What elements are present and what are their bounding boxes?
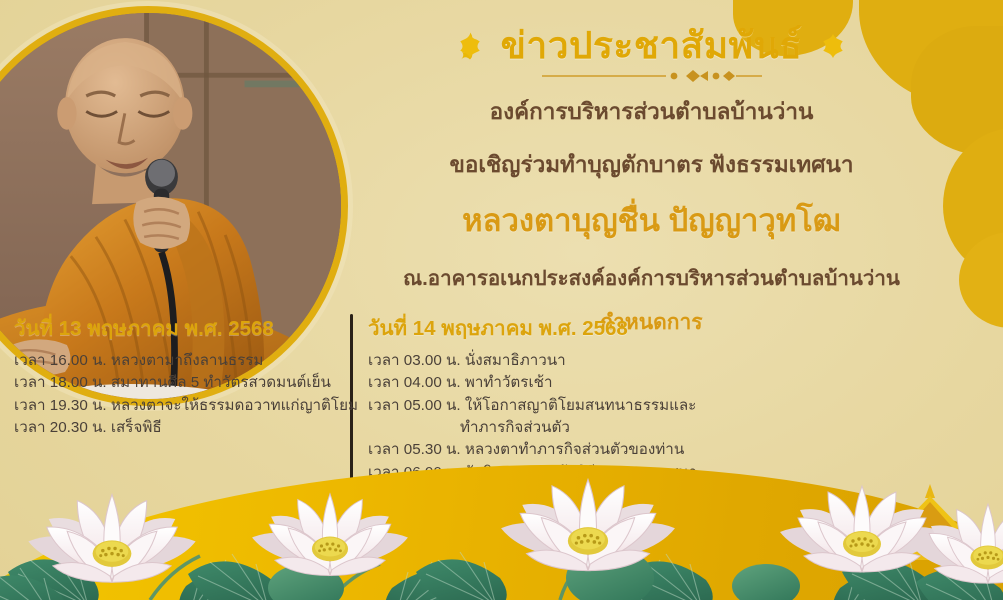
schedule-column-day1: วันที่ 13 พฤษภาคม พ.ศ. 2568 เวลา 16.00 น… — [5, 312, 350, 439]
schedule-row-continuation: ทำภารกิจส่วนตัว — [368, 417, 701, 439]
page-title: ข่าวประชาสัมพันธ์ — [501, 27, 803, 66]
title-row: ข่าวประชาสัมพันธ์ — [300, 27, 1003, 66]
lotus-flower-decoration — [0, 460, 1003, 600]
schedule-row: เวลา 16.00 น. หลวงตามาถึงลานธรรม — [14, 350, 350, 372]
announcement-poster: ข่าวประชาสัมพันธ์ องค์การบริหารส่วนตำบลบ… — [0, 0, 1003, 600]
schedule-row: เวลา 05.00 น. ให้โอกาสญาติโยมสนทนาธรรมแล… — [368, 395, 701, 417]
schedule-row: เวลา 20.30 น. เสร็จพิธี — [14, 417, 350, 439]
schedule-row: เวลา 03.00 น. นั่งสมาธิภาวนา — [368, 350, 701, 372]
day1-heading: วันที่ 13 พฤษภาคม พ.ศ. 2568 — [14, 312, 350, 345]
day2-heading: วันที่ 14 พฤษภาคม พ.ศ. 2568 — [368, 312, 701, 345]
day1-items: เวลา 16.00 น. หลวงตามาถึงลานธรรม เวลา 18… — [14, 350, 350, 439]
venue-text: ณ.อาคารอเนกประสงค์องค์การบริหารส่วนตำบลบ… — [300, 262, 1003, 295]
invitation-text: ขอเชิญร่วมทำบุญตักบาตร ฟังธรรมเทศนา — [300, 146, 1003, 182]
quatrefoil-icon — [455, 31, 485, 61]
organization-name: องค์การบริหารส่วนตำบลบ้านว่าน — [300, 93, 1003, 129]
monk-name: หลวงตาบุญชื่น ปัญญาวุทโฒ — [300, 195, 1003, 245]
quatrefoil-icon — [818, 31, 848, 61]
ornamental-divider-icon — [540, 68, 764, 84]
schedule-row: เวลา 19.30 น. หลวงตาจะให้ธรรมดอวาทแก่ญาต… — [14, 395, 350, 417]
schedule-row: เวลา 18.00 น. สมาทานศีล 5 ทำวัตรสวดมนต์เ… — [14, 372, 350, 394]
schedule-row: เวลา 05.30 น. หลวงตาทำภารกิจส่วนตัวของท่… — [368, 439, 701, 461]
schedule-row: เวลา 04.00 น. พาทำวัตรเช้า — [368, 372, 701, 394]
